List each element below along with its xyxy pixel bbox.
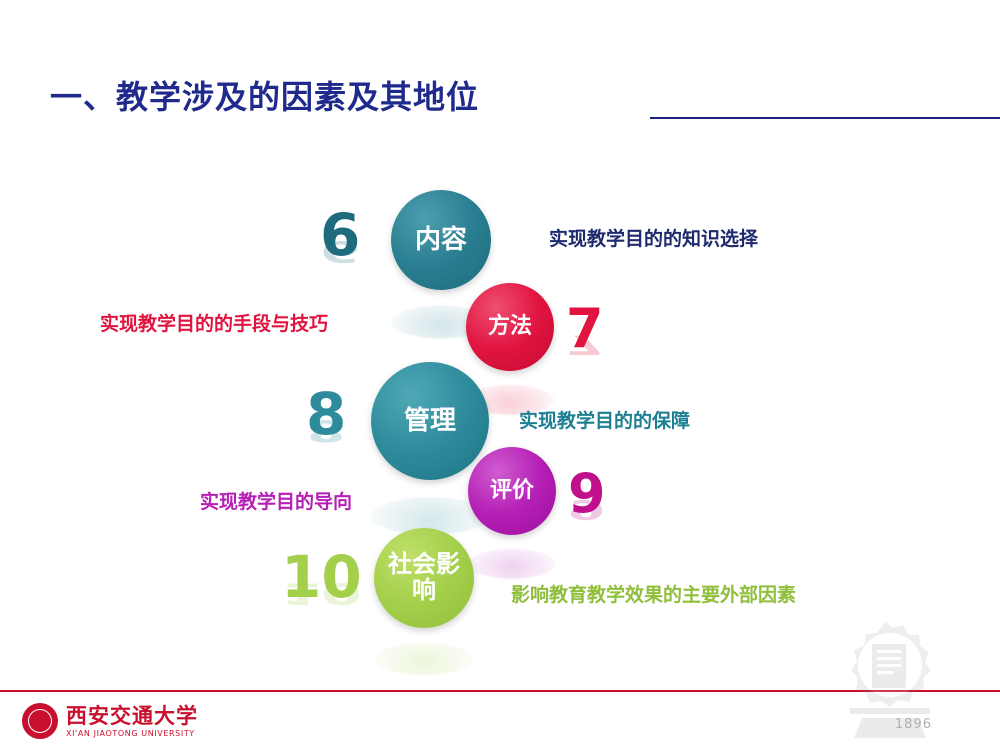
bubble-label-method: 方法 [466, 315, 554, 339]
bubble-diagram: 6 7 8 9 10 6 内容 实现教学目的的知识选择 实现教学目的的手段与技巧… [0, 150, 1000, 670]
item-number-9: 9 [568, 467, 606, 521]
bubble-management[interactable]: 管理 [371, 362, 489, 480]
item-number-6: 6 [320, 206, 360, 264]
caption-content: 实现教学目的的知识选择 [549, 224, 758, 251]
watermark-year: 1896 [895, 717, 932, 732]
page-title: 一、教学涉及的因素及其地位 [50, 75, 479, 119]
university-name-en: XI'AN JIAOTONG UNIVERSITY [66, 729, 198, 738]
bubble-reflection-10 [374, 643, 474, 675]
caption-method: 实现教学目的的手段与技巧 [100, 309, 328, 336]
bubble-evaluation[interactable]: 评价 [468, 447, 556, 535]
bubble-method[interactable]: 方法 [466, 283, 554, 371]
bubble-label-management: 管理 [371, 407, 489, 435]
item-number-7: 7 [566, 302, 604, 356]
university-seal-icon [22, 703, 58, 739]
caption-management: 实现教学目的的保障 [519, 406, 690, 433]
bubble-label-social-influence: 社会影响 [374, 552, 474, 604]
university-logo: 西安交通大学 XI'AN JIAOTONG UNIVERSITY [22, 698, 242, 744]
footer-divider [0, 690, 1000, 692]
university-name-cn: 西安交通大学 [66, 704, 198, 727]
university-logo-text: 西安交通大学 XI'AN JIAOTONG UNIVERSITY [66, 704, 198, 738]
caption-social-influence: 影响教育教学效果的主要外部因素 [511, 580, 796, 607]
title-underline [650, 117, 1000, 119]
bubble-label-evaluation: 评价 [468, 479, 556, 503]
bubble-reflection-9 [468, 549, 556, 579]
title-row: 一、教学涉及的因素及其地位 [50, 75, 1000, 127]
bubble-social-influence[interactable]: 社会影响 [374, 528, 474, 628]
item-number-10: 10 [281, 548, 362, 606]
slide: 一、教学涉及的因素及其地位 6 7 8 9 10 6 内容 实现教学目的的知识选… [0, 0, 1000, 750]
item-number-8: 8 [306, 385, 346, 443]
caption-evaluation: 实现教学目的导向 [200, 487, 352, 514]
bubble-label-content: 内容 [391, 226, 491, 254]
bubble-content[interactable]: 内容 [391, 190, 491, 290]
